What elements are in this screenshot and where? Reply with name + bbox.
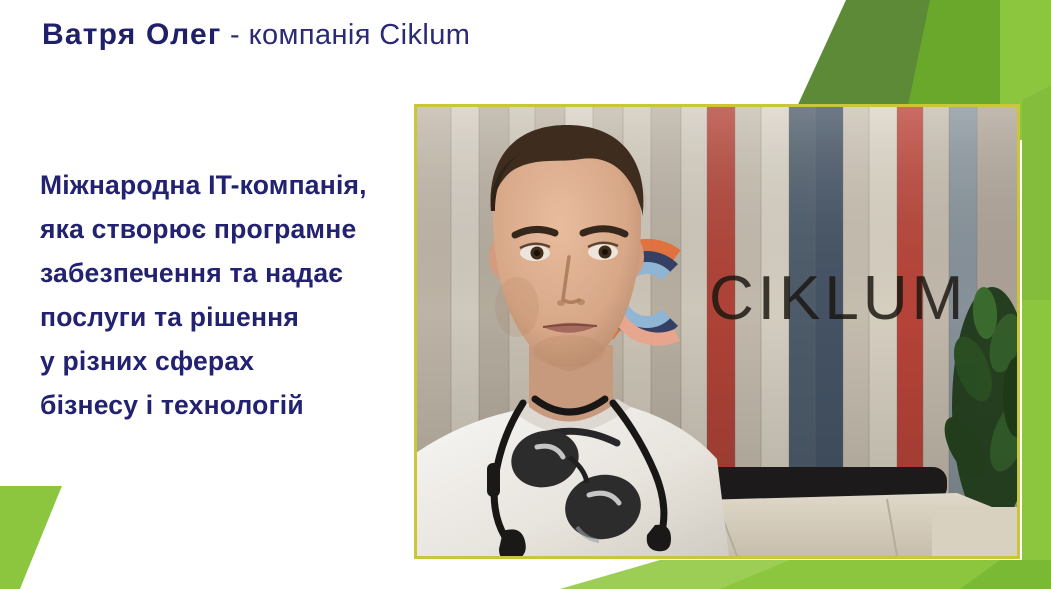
body-line-1: Міжнародна IT-компанія, bbox=[40, 163, 432, 207]
deco-shape-right-edge bbox=[1022, 86, 1051, 560]
slide-title: Ватря Олег - компанія Ciklum bbox=[42, 18, 470, 52]
title-person-name: Ватря Олег bbox=[42, 18, 222, 51]
photo-frame: CIKLUM bbox=[414, 104, 1020, 559]
deco-shape-bottom-left bbox=[0, 486, 62, 589]
deco-shape-bottom-light bbox=[960, 560, 1051, 589]
body-line-4: послуги та рішення bbox=[40, 295, 432, 339]
body-paragraph: Міжнародна IT-компанія, яка створює прог… bbox=[40, 163, 432, 427]
photo-image: CIKLUM bbox=[417, 107, 1017, 556]
deco-shape-right-edge-2 bbox=[1022, 86, 1051, 300]
deco-shape-bottom-pale bbox=[560, 560, 790, 589]
body-line-5: у різних сферах bbox=[40, 339, 432, 383]
deco-shape-bottom-white bbox=[430, 560, 640, 589]
deco-shape-bottom-mid bbox=[640, 560, 1051, 589]
title-company-part: - компанія Ciklum bbox=[222, 19, 471, 51]
body-line-2: яка створює програмне bbox=[40, 207, 432, 251]
deco-shape-bottom-left-thin bbox=[20, 486, 80, 589]
deco-shape-top-dark bbox=[770, 0, 1051, 120]
presentation-slide: Ватря Олег - компанія Ciklum Міжнародна … bbox=[0, 0, 1051, 589]
body-line-3: забезпечення та надає bbox=[40, 251, 432, 295]
body-line-6: бізнесу і технологій bbox=[40, 383, 432, 427]
